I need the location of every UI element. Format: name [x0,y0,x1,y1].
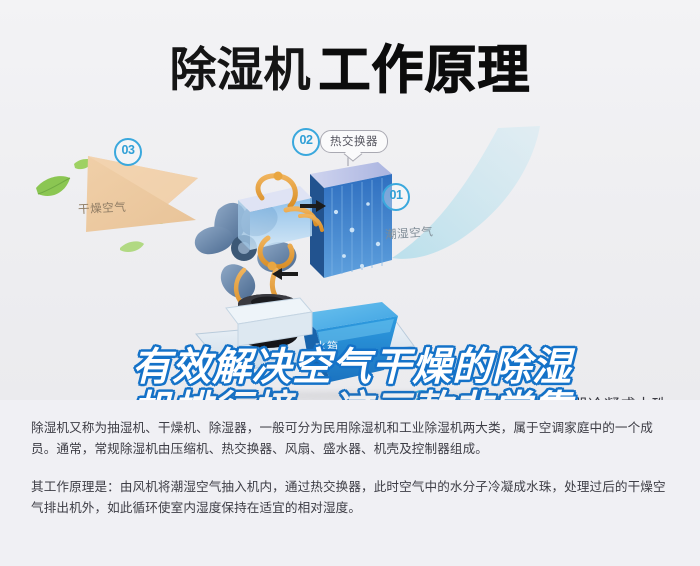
diagram-marker-01: 01 [382,183,410,211]
label-water-tank: 水箱 [315,338,339,354]
infographic-hero: 除湿机工作原理 [0,0,700,400]
diagram-marker-03: 03 [114,138,142,166]
diagram-illustration [0,120,700,400]
body-paragraph-2: 其工作原理是：由风机将潮湿空气抽入机内，通过热交换器，此时空气中的水分子冷凝成水… [31,476,671,518]
page-root: 除湿机工作原理 [0,0,700,566]
body-paragraph-1: 除湿机又称为抽湿机、干燥机、除湿器，一般可分为民用除湿机和工业除湿机两大类，属于… [31,417,671,459]
title-part-principle: 工作原理 [318,41,530,101]
hero-drop-shadow [150,392,550,400]
title-part-dehumidifier: 除湿机 [169,43,310,98]
article-body: 除湿机又称为抽湿机、干燥机、除湿器，一般可分为民用除湿机和工业除湿机两大类，属于… [31,417,671,518]
label-dry-air: 干燥空气 [78,199,127,218]
label-humid-air: 潮湿空气 [385,223,434,242]
page-title: 除湿机工作原理 [0,28,700,103]
diagram-marker-02: 02 [292,128,320,156]
dehumidifier-diagram: 03 02 01 热交换器 干燥空气 潮湿空气 水箱 02 潮湿空气经过蒸发器冷… [0,120,700,400]
heat-exchanger-callout: 热交换器 [320,130,388,153]
